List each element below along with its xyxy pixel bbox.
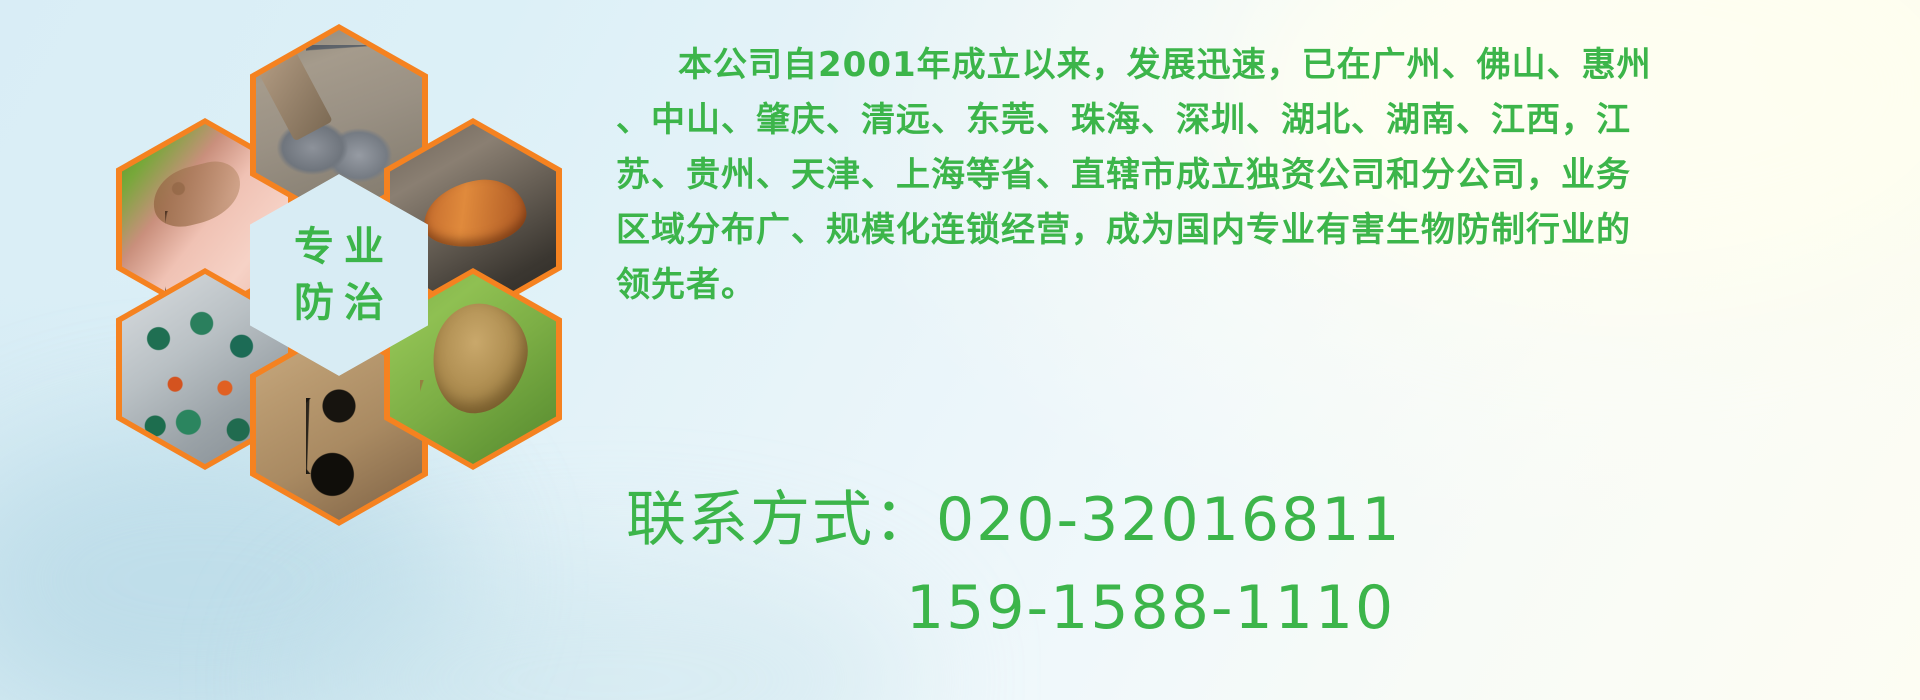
- slogan-word-control: 防治: [284, 283, 394, 323]
- company-intro-paragraph: 本公司自2001年成立以来，发展迅速，已在广州、佛山、惠州 、中山、肇庆、清远、…: [616, 38, 1906, 313]
- intro-line-1: 本公司自2001年成立以来，发展迅速，已在广州、佛山、惠州: [616, 38, 1906, 93]
- intro-line-5: 领先者。: [616, 258, 1906, 313]
- slogan-word-professional: 专业: [284, 227, 394, 267]
- intro-line-2: 、中山、肇庆、清远、东莞、珠海、深圳、湖北、湖南、江西，江: [616, 93, 1906, 148]
- contact-primary-phone[interactable]: 联系方式：020-32016811: [626, 476, 1916, 564]
- promo-banner: 专业 防治 本公司自2001年成立以来，发展迅速，已在广州、佛山、惠州 、中山、…: [0, 0, 1920, 700]
- intro-line-4: 区域分布广、规模化连锁经营，成为国内专业有害生物防制行业的: [616, 203, 1906, 258]
- contact-secondary-phone[interactable]: 159-1588-1110: [626, 564, 1916, 652]
- hexagon-photo-cluster: 专业 防治: [86, 6, 586, 566]
- intro-line-3: 苏、贵州、天津、上海等省、直辖市成立独资公司和分公司，业务: [616, 148, 1906, 203]
- contact-info: 联系方式：020-32016811 159-1588-1110: [626, 476, 1916, 652]
